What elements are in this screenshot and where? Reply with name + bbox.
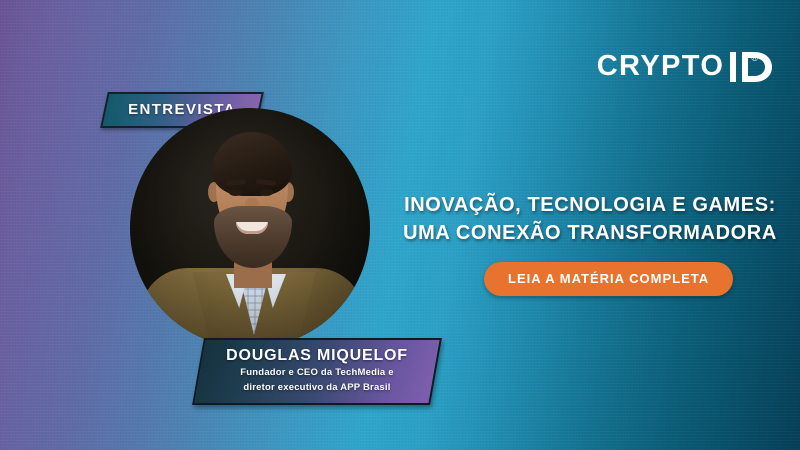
page-title-line-2: UMA CONEXÃO TRANSFORMADORA [388,220,792,248]
promo-banner: CRYPTO ® ENTREVISTA I [0,0,800,450]
read-full-article-button[interactable]: LEIA A MATÉRIA COMPLETA [484,262,733,296]
brand-name: CRYPTO [597,52,725,81]
speaker-nameplate: DOUGLAS MIQUELOF Fundador e CEO da TechM… [192,338,442,405]
portrait-vignette [130,108,370,348]
page-title: INOVAÇÃO, TECNOLOGIA E GAMES: UMA CONEXÃ… [388,192,792,247]
page-title-line-1: INOVAÇÃO, TECNOLOGIA E GAMES: [404,194,776,216]
speaker-nameplate-inner: DOUGLAS MIQUELOF Fundador e CEO da TechM… [226,347,408,394]
speaker-name: DOUGLAS MIQUELOF [226,347,408,365]
brand-id-mark-icon [728,52,750,81]
speaker-role-line-2: diretor executivo da APP Brasil [226,382,408,394]
speaker-portrait [130,108,370,348]
crypto-id-logo[interactable]: CRYPTO ® [597,52,758,81]
speaker-role-line-1: Fundador e CEO da TechMedia e [226,367,408,379]
